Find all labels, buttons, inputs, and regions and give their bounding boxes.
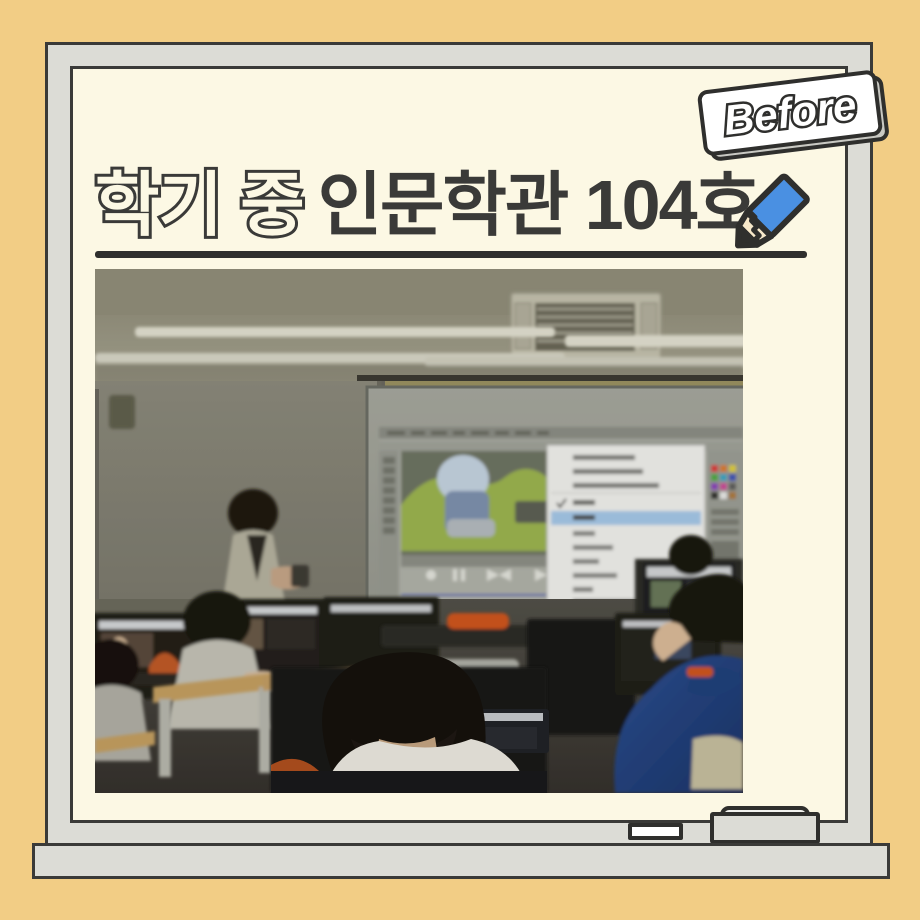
before-badge: Before [697, 69, 884, 156]
title-outlined-part: 학기 중 [95, 170, 304, 240]
poster-canvas: 학기 중 인문학관 104호 [0, 0, 920, 920]
page-title: 학기 중 인문학관 104호 [95, 154, 795, 240]
whiteboard-panel: 학기 중 인문학관 104호 [70, 66, 848, 823]
whiteboard-eraser [710, 812, 820, 844]
marker-tray [32, 843, 890, 879]
title-solid-part: 인문학관 104호 [318, 170, 758, 240]
before-badge-label: Before [721, 84, 858, 142]
classroom-photo-artwork [95, 269, 743, 793]
pencil-icon [721, 169, 813, 261]
classroom-photo [95, 269, 743, 793]
title-underline [95, 251, 807, 258]
small-eraser [628, 823, 683, 840]
